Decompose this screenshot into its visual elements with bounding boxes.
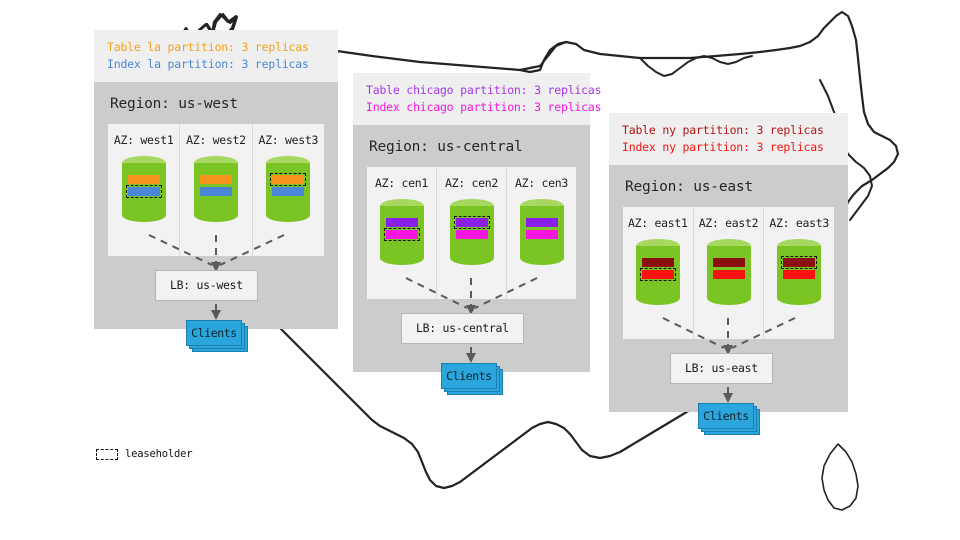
az-cell-west2[interactable]: AZ: west2 — [180, 124, 252, 256]
region-title: Region: us-west — [94, 82, 338, 124]
legend-line-index: Index ny partition: 3 replicas — [622, 139, 835, 156]
az-cell-cen2[interactable]: AZ: cen2 — [437, 167, 507, 299]
az-label: AZ: west3 — [253, 133, 324, 147]
replica-index-bar-leaseholder — [386, 230, 418, 239]
az-label: AZ: cen1 — [367, 176, 436, 190]
az-strip-us-west: AZ: west1 AZ: west2 — [108, 124, 324, 256]
replica-table-bar — [713, 258, 745, 267]
region-body-us-east: Region: us-east AZ: east1 AZ: east2 — [609, 165, 848, 412]
replica-index-bar — [200, 187, 232, 196]
clients-label: Clients — [441, 363, 497, 389]
az-strip-us-east: AZ: east1 AZ: east2 — [623, 207, 834, 339]
az-cell-east2[interactable]: AZ: east2 — [694, 207, 765, 339]
legend-line-table: Table la partition: 3 replicas — [107, 39, 325, 56]
az-label: AZ: west1 — [108, 133, 179, 147]
az-cell-cen1[interactable]: AZ: cen1 — [367, 167, 437, 299]
replica-table-bar-leaseholder — [272, 175, 304, 184]
replica-index-bar — [456, 230, 488, 239]
legend-band-us-west: Table la partition: 3 replicas Index la … — [94, 30, 338, 82]
node-cylinder-east1[interactable] — [636, 239, 680, 305]
region-us-central[interactable]: Table chicago partition: 3 replicas Inde… — [353, 73, 590, 372]
region-title: Region: us-east — [609, 165, 848, 207]
node-cylinder-west1[interactable] — [122, 156, 166, 222]
region-body-us-west: Region: us-west AZ: west1 AZ: west2 — [94, 82, 338, 329]
region-title: Region: us-central — [353, 125, 590, 167]
node-cylinder-west2[interactable] — [194, 156, 238, 222]
replica-index-bar-leaseholder — [642, 270, 674, 279]
dashed-rect-icon — [96, 449, 118, 460]
node-cylinder-cen2[interactable] — [450, 199, 494, 265]
replica-index-bar — [526, 230, 558, 239]
replica-index-bar — [272, 187, 304, 196]
az-cell-east1[interactable]: AZ: east1 — [623, 207, 694, 339]
load-balancer-us-east[interactable]: LB: us-east — [670, 353, 773, 384]
az-label: AZ: cen2 — [437, 176, 506, 190]
az-strip-us-central: AZ: cen1 AZ: cen2 — [367, 167, 576, 299]
legend-line-table: Table ny partition: 3 replicas — [622, 122, 835, 139]
replica-table-bar — [526, 218, 558, 227]
clients-label: Clients — [698, 403, 754, 429]
region-us-east[interactable]: Table ny partition: 3 replicas Index ny … — [609, 113, 848, 412]
load-balancer-us-central[interactable]: LB: us-central — [401, 313, 524, 344]
az-label: AZ: east1 — [623, 216, 693, 230]
legend-line-index: Index chicago partition: 3 replicas — [366, 99, 577, 116]
clients-label: Clients — [186, 320, 242, 346]
region-us-west[interactable]: Table la partition: 3 replicas Index la … — [94, 30, 338, 329]
legend-band-us-central: Table chicago partition: 3 replicas Inde… — [353, 73, 590, 125]
node-cylinder-cen3[interactable] — [520, 199, 564, 265]
az-cell-east3[interactable]: AZ: east3 — [764, 207, 834, 339]
az-label: AZ: east2 — [694, 216, 764, 230]
replica-table-bar — [642, 258, 674, 267]
clients-us-east[interactable]: Clients — [698, 403, 754, 429]
replica-index-bar — [783, 270, 815, 279]
az-cell-cen3[interactable]: AZ: cen3 — [507, 167, 576, 299]
legend-line-table: Table chicago partition: 3 replicas — [366, 82, 577, 99]
clients-us-west[interactable]: Clients — [186, 320, 242, 346]
replica-table-bar — [386, 218, 418, 227]
node-cylinder-east2[interactable] — [707, 239, 751, 305]
clients-us-central[interactable]: Clients — [441, 363, 497, 389]
node-cylinder-cen1[interactable] — [380, 199, 424, 265]
az-label: AZ: east3 — [764, 216, 834, 230]
az-cell-west1[interactable]: AZ: west1 — [108, 124, 180, 256]
node-cylinder-west3[interactable] — [266, 156, 310, 222]
load-balancer-us-west[interactable]: LB: us-west — [155, 270, 258, 301]
az-cell-west3[interactable]: AZ: west3 — [253, 124, 324, 256]
replica-table-bar — [200, 175, 232, 184]
leaseholder-legend-label: leaseholder — [125, 448, 192, 460]
replica-index-bar-leaseholder — [128, 187, 160, 196]
replica-table-bar — [128, 175, 160, 184]
replica-index-bar — [713, 270, 745, 279]
region-body-us-central: Region: us-central AZ: cen1 AZ: cen2 — [353, 125, 590, 372]
az-label: AZ: west2 — [180, 133, 251, 147]
node-cylinder-east3[interactable] — [777, 239, 821, 305]
legend-band-us-east: Table ny partition: 3 replicas Index ny … — [609, 113, 848, 165]
leaseholder-legend: leaseholder — [96, 448, 192, 460]
legend-line-index: Index la partition: 3 replicas — [107, 56, 325, 73]
replica-table-bar-leaseholder — [456, 218, 488, 227]
replica-table-bar-leaseholder — [783, 258, 815, 267]
diagram-canvas: Table la partition: 3 replicas Index la … — [0, 0, 960, 540]
az-label: AZ: cen3 — [507, 176, 576, 190]
